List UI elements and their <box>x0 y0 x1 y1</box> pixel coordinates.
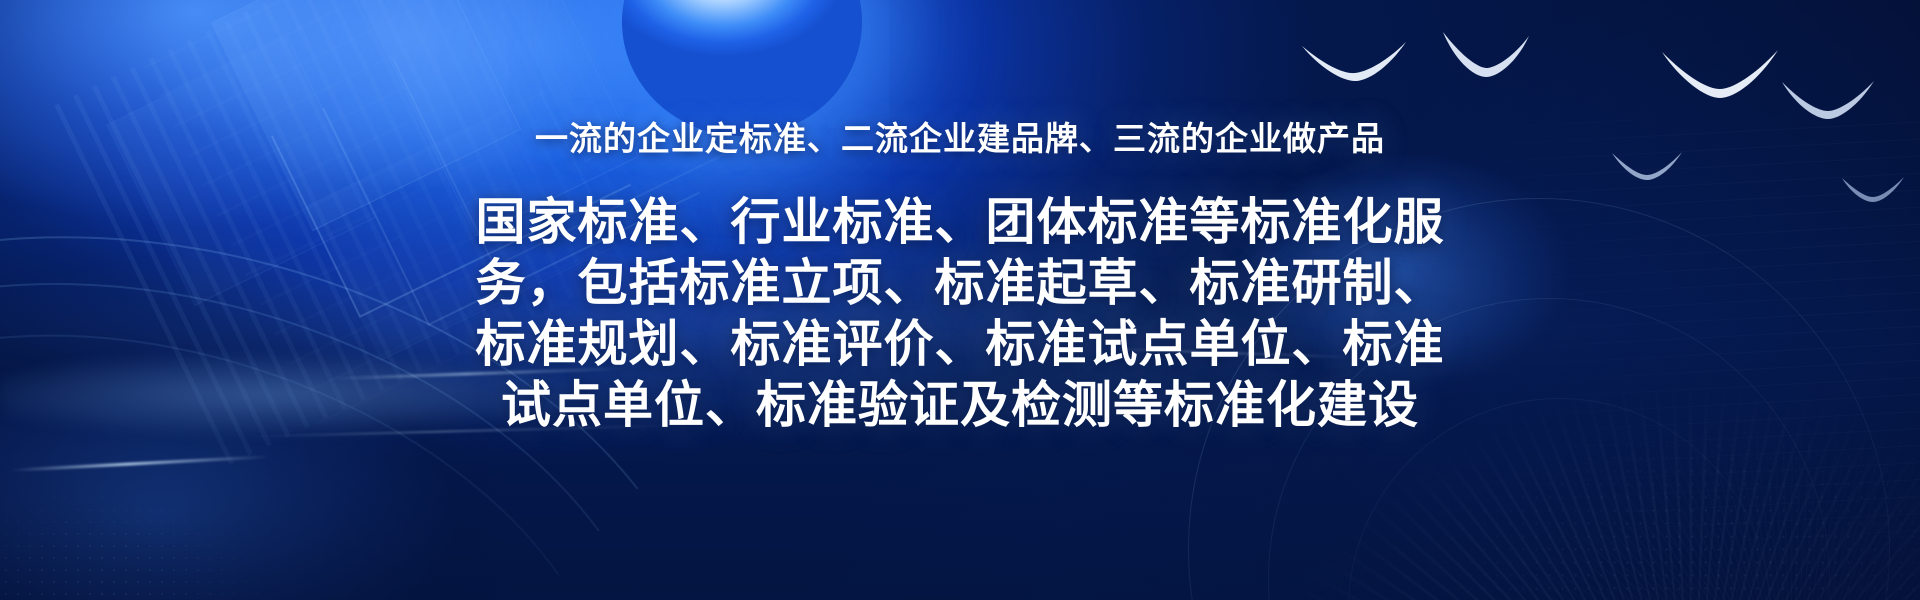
headline-line-1: 国家标准、行业标准、团体标准等标准化服 <box>476 192 1445 253</box>
banner-subtitle: 一流的企业定标准、二流企业建品牌、三流的企业做产品 <box>535 112 1385 160</box>
headline-line-4: 试点单位、标准验证及检测等标准化建设 <box>476 375 1445 436</box>
banner-text-block: 一流的企业定标准、二流企业建品牌、三流的企业做产品 国家标准、行业标准、团体标准… <box>0 0 1920 600</box>
banner-headline: 国家标准、行业标准、团体标准等标准化服 务，包括标准立项、标准起草、标准研制、 … <box>476 192 1445 436</box>
headline-line-2: 务，包括标准立项、标准起草、标准研制、 <box>476 253 1445 314</box>
headline-line-3: 标准规划、标准评价、标准试点单位、标准 <box>476 314 1445 375</box>
hero-banner: 一流的企业定标准、二流企业建品牌、三流的企业做产品 国家标准、行业标准、团体标准… <box>0 0 1920 600</box>
